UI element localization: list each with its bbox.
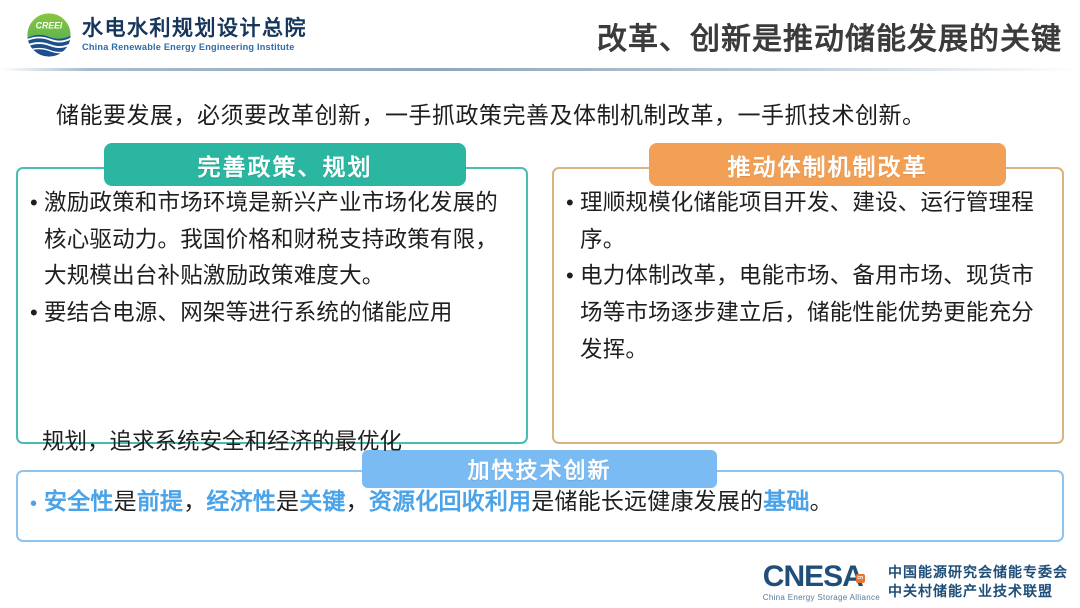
plain-text: ， — [183, 488, 206, 514]
highlight-term: 安全性 — [44, 488, 114, 514]
list-item: • 电力体制改革，电能市场、备用市场、现货市场等市场逐步建立后，储能性能优势更能… — [566, 258, 1054, 368]
plain-text: 。 — [810, 488, 833, 514]
header-divider — [0, 68, 1080, 71]
bullet-icon: • — [566, 258, 580, 294]
cnesa-mark-icon: cn — [856, 574, 865, 583]
list-item: • 要结合电源、网架等进行系统的储能应用 — [30, 295, 516, 332]
list-item: • 理顺规模化储能项目开发、建设、运行管理程序。 — [566, 185, 1054, 258]
slide-root: CREEI 水电水利规划设计总院 China Renewable Energy … — [0, 0, 1080, 608]
plain-text: ， — [346, 488, 369, 514]
bullet-icon: • — [30, 295, 44, 331]
highlight-term: 关键 — [299, 488, 345, 514]
panel-policy-planning-body: • 激励政策和市场环境是新兴产业市场化发展的核心驱动力。我国价格和财税支持政策有… — [18, 169, 526, 332]
list-item-text: 电力体制改革，电能市场、备用市场、现货市场等市场逐步建立后，储能性能优势更能充分… — [580, 258, 1054, 368]
panel-policy-planning: • 激励政策和市场环境是新兴产业市场化发展的核心驱动力。我国价格和财税支持政策有… — [16, 167, 528, 444]
panel-policy-planning-heading: 完善政策、规划 — [104, 143, 466, 186]
slide-header: CREEI 水电水利规划设计总院 China Renewable Energy … — [0, 0, 1080, 70]
cnesa-chinese-name: 中国能源研究会储能专委会 中关村储能产业技术联盟 — [888, 565, 1068, 599]
cnesa-logo: CNESA cn China Energy Storage Alliance — [763, 562, 880, 602]
brand-text: 水电水利规划设计总院 China Renewable Energy Engine… — [82, 18, 307, 52]
cnesa-wordmark-text: CNESA — [763, 560, 863, 593]
cnesa-tagline: China Energy Storage Alliance — [763, 594, 880, 602]
creei-circular-logo-icon: CREEI — [26, 12, 72, 58]
bullet-icon: • — [30, 185, 44, 221]
panel-system-reform: • 理顺规模化储能项目开发、建设、运行管理程序。 • 电力体制改革，电能市场、备… — [552, 167, 1064, 444]
brand-block: CREEI 水电水利规划设计总院 China Renewable Energy … — [26, 12, 307, 58]
bullet-icon: • — [566, 185, 580, 221]
panel-policy-planning-overflow-text: 规划，追求系统安全和经济的最优化 — [42, 424, 402, 461]
list-item-text: 理顺规模化储能项目开发、建设、运行管理程序。 — [580, 185, 1054, 258]
list-item-text: 安全性是前提，经济性是关键，资源化回收利用是储能长远健康发展的基础。 — [44, 488, 1054, 516]
panel-system-reform-body: • 理顺规模化储能项目开发、建设、运行管理程序。 • 电力体制改革，电能市场、备… — [554, 169, 1062, 368]
list-item: • 激励政策和市场环境是新兴产业市场化发展的核心驱动力。我国价格和财税支持政策有… — [30, 185, 516, 295]
highlight-term: 经济性 — [206, 488, 276, 514]
plain-text: 是储能长远健康发展的 — [531, 488, 763, 514]
list-item-text: 要结合电源、网架等进行系统的储能应用 — [44, 295, 516, 332]
cnesa-wordmark: CNESA cn — [763, 562, 863, 592]
plain-text: 是 — [276, 488, 299, 514]
plain-text: 是 — [114, 488, 137, 514]
list-item: • 安全性是前提，经济性是关键，资源化回收利用是储能长远健康发展的基础。 — [30, 488, 1054, 521]
svg-text:CREEI: CREEI — [36, 21, 63, 31]
highlight-term: 前提 — [137, 488, 183, 514]
cnesa-chinese-line-1: 中国能源研究会储能专委会 — [888, 565, 1068, 580]
panel-tech-innovation-heading: 加快技术创新 — [362, 450, 717, 488]
highlight-term: 基础 — [763, 488, 809, 514]
brand-name-cn: 水电水利规划设计总院 — [82, 18, 307, 39]
brand-name-en: China Renewable Energy Engineering Insti… — [82, 43, 312, 52]
page-title: 改革、创新是推动储能发展的关键 — [597, 14, 1062, 58]
list-item-text: 激励政策和市场环境是新兴产业市场化发展的核心驱动力。我国价格和财税支持政策有限，… — [44, 185, 516, 295]
footer-logo-block: CNESA cn China Energy Storage Alliance 中… — [763, 562, 1068, 602]
lead-paragraph: 储能要发展，必须要改革创新，一手抓政策完善及体制机制改革，一手抓技术创新。 — [56, 96, 926, 130]
bullet-icon: • — [30, 488, 44, 521]
cnesa-chinese-line-2: 中关村储能产业技术联盟 — [888, 584, 1068, 599]
highlight-term: 资源化回收利用 — [369, 488, 531, 514]
panel-system-reform-heading: 推动体制机制改革 — [649, 143, 1006, 186]
